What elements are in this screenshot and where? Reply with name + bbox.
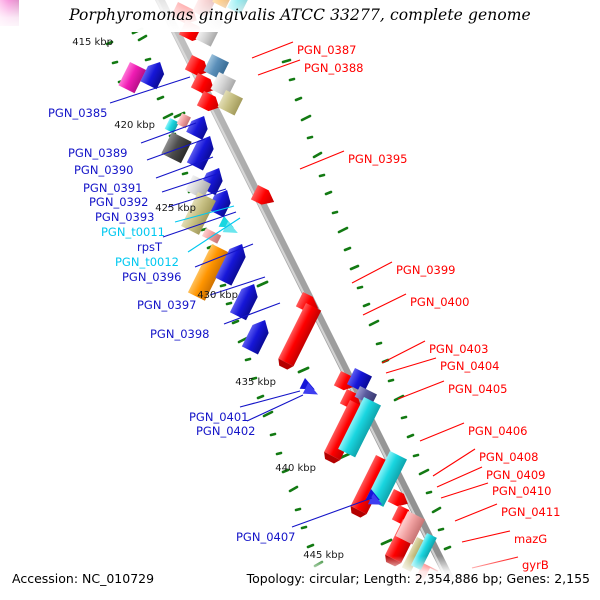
ruler-tick-label: 415 kbp [72,37,113,48]
feature-pgn-0389 [165,118,179,133]
gene-label-pgn-0398[interactable]: PGN_0398 [150,327,209,341]
gene-label-pgn-0407[interactable]: PGN_0407 [236,530,295,544]
gene-label-pgn-0403[interactable]: PGN_0403 [429,342,488,356]
gene-label-pgn-0396[interactable]: PGN_0396 [122,270,181,284]
leader-line [441,483,488,498]
leader-line [240,391,300,407]
gene-label-pgn-0408[interactable]: PGN_0408 [479,450,538,464]
gene-label-pgn-0395[interactable]: PGN_0395 [348,152,407,166]
gene-label-pgn-0388[interactable]: PGN_0388 [304,61,363,75]
leader-line [247,395,303,421]
features-left-strand[interactable] [171,2,445,600]
gene-label-pgn-0402[interactable]: PGN_0402 [196,424,255,438]
leader-line [462,531,510,542]
feature-pgn-0401 [298,378,322,400]
gene-label-pgn-0391[interactable]: PGN_0391 [83,181,142,195]
gene-label-pgn-0405[interactable]: PGN_0405 [448,382,507,396]
ruler-tick-label: 440 kbp [275,463,316,474]
genome-map-viewer[interactable]: Porphyromonas gingivalis ATCC 33277, com… [0,0,600,600]
gene-label-pgn-0410[interactable]: PGN_0410 [492,484,551,498]
leader-line [252,42,293,58]
ruler-tick-label: 425 kbp [155,203,196,214]
leader-line [420,423,464,441]
gene-label-pgn-0387[interactable]: PGN_0387 [297,43,356,57]
gene-label-pgn-0404[interactable]: PGN_0404 [440,359,499,373]
gene-label-pgn-0400[interactable]: PGN_0400 [410,295,469,309]
feature-pgn-0386 [140,58,168,89]
genome-map-canvas[interactable]: Porphyromonas gingivalis ATCC 33277, com… [0,0,600,600]
gene-label-pgn-0406[interactable]: PGN_0406 [468,424,527,438]
leader-line [437,467,482,487]
feature-pgn-0385 [118,62,146,93]
leader-line [382,341,425,363]
feature-blue-arrow-e [242,316,273,354]
ruler-tick-label: 420 kbp [114,120,155,131]
leader-line [258,60,300,75]
ruler-tick-label: 445 kbp [303,550,344,561]
feature-blue-arrow-a [186,112,212,140]
status-bar: Accession: NC_010729 Topology: circular;… [0,566,600,600]
topology-text: Topology: circular; Length: 2,354,886 bp… [247,571,590,586]
gene-label-pgn-0393[interactable]: PGN_0393 [95,210,154,224]
ruler-tick-label: 435 kbp [235,377,276,388]
gene-label-pgn-0389[interactable]: PGN_0389 [68,146,127,160]
gene-label-pgn-0401[interactable]: PGN_0401 [189,410,248,424]
gene-label-pgn-t0011[interactable]: PGN_t0011 [101,225,165,239]
feature-pgn-0400-left [276,303,322,371]
gene-label-pgn-0397[interactable]: PGN_0397 [137,298,196,312]
gene-label-rpst[interactable]: rpsT [137,240,162,254]
ruler-tick-marks [133,29,391,544]
page-title: Porphyromonas gingivalis ATCC 33277, com… [0,6,600,24]
leader-line [398,381,444,399]
gene-label-pgn-0392[interactable]: PGN_0392 [89,195,148,209]
gene-label-mazg[interactable]: mazG [514,532,547,546]
gene-label-pgn-0411[interactable]: PGN_0411 [501,505,560,519]
gene-label-pgn-0409[interactable]: PGN_0409 [486,468,545,482]
gene-label-pgn-0399[interactable]: PGN_0399 [396,263,455,277]
leader-line [455,504,497,521]
ruler-tick-label: 430 kbp [197,290,238,301]
leader-line [386,358,436,373]
gene-label-pgn-0390[interactable]: PGN_0390 [74,163,133,177]
leader-line [433,449,475,476]
feature-pgn-0391 [161,132,191,163]
gene-label-pgn-t0012[interactable]: PGN_t0012 [115,255,179,269]
gene-label-pgn-0385[interactable]: PGN_0385 [48,106,107,120]
accession-text: Accession: NC_010729 [12,571,154,586]
